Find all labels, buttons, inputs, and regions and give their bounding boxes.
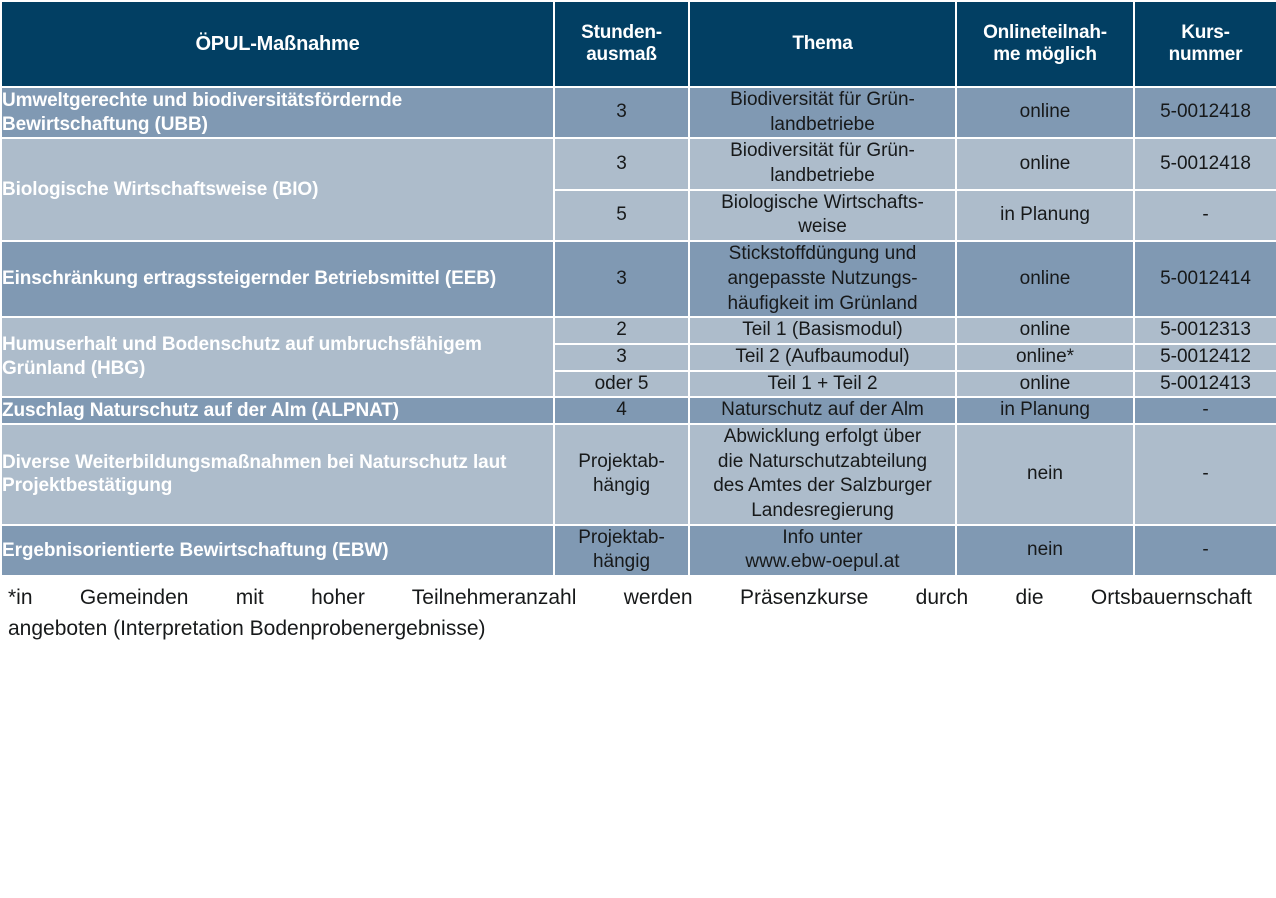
table-row: Ergebnisorientierte Bewirtschaftung (EBW… bbox=[1, 525, 1276, 576]
course-number-cell: 5-0012413 bbox=[1134, 371, 1276, 398]
topic-line: Stickstoffdüngung und bbox=[729, 243, 917, 264]
topic-line: häufigkeit im Grünland bbox=[727, 293, 917, 314]
measure-cell: Diverse Weiterbildungsmaßnahmen bei Natu… bbox=[1, 424, 554, 525]
hours-line: 3 bbox=[616, 153, 627, 174]
column-header-coursenumber-line2: nummer bbox=[1169, 44, 1243, 65]
online-availability-cell: in Planung bbox=[956, 397, 1134, 424]
footnote-line-1: *in Gemeinden mit hoher Teilnehmeranzahl… bbox=[8, 583, 1252, 613]
measure-cell: Biologische Wirtschaftsweise (BIO) bbox=[1, 138, 554, 241]
online-availability-cell: in Planung bbox=[956, 190, 1134, 241]
topic-line: Teil 1 + Teil 2 bbox=[767, 373, 877, 394]
course-number-cell: 5-0012418 bbox=[1134, 87, 1276, 138]
header-row: ÖPUL-Maßnahme Stunden- ausmaß Thema Onli… bbox=[1, 1, 1276, 87]
footnote-line-2: angeboten (Interpretation Bodenprobenerg… bbox=[8, 614, 1252, 644]
topic-cell: Stickstoffdüngung undangepasste Nutzungs… bbox=[689, 241, 956, 317]
topic-cell: Info unterwww.ebw-oepul.at bbox=[689, 525, 956, 576]
topic-cell: Naturschutz auf der Alm bbox=[689, 397, 956, 424]
online-availability-cell: nein bbox=[956, 424, 1134, 525]
topic-cell: Teil 2 (Aufbaumodul) bbox=[689, 344, 956, 371]
table-row: Diverse Weiterbildungsmaßnahmen bei Natu… bbox=[1, 424, 1276, 525]
measure-cell: Umweltgerechte und biodiversitätsfördern… bbox=[1, 87, 554, 138]
course-number-cell: - bbox=[1134, 525, 1276, 576]
hours-cell: Projektab-hängig bbox=[554, 424, 689, 525]
hours-cell: oder 5 bbox=[554, 371, 689, 398]
topic-line: Naturschutz auf der Alm bbox=[721, 399, 924, 420]
hours-line: 3 bbox=[616, 346, 627, 367]
topic-line: des Amtes der Salzburger bbox=[713, 475, 932, 496]
hours-cell: 2 bbox=[554, 317, 689, 344]
course-number-cell: 5-0012412 bbox=[1134, 344, 1276, 371]
hours-line: oder 5 bbox=[595, 373, 649, 394]
hours-line: hängig bbox=[593, 475, 650, 496]
table-row: Umweltgerechte und biodiversitätsfördern… bbox=[1, 87, 1276, 138]
measure-cell: Ergebnisorientierte Bewirtschaftung (EBW… bbox=[1, 525, 554, 576]
hours-cell: 5 bbox=[554, 190, 689, 241]
topic-cell: Biologische Wirtschafts-weise bbox=[689, 190, 956, 241]
table-row: Humuserhalt und Bodenschutz auf umbruchs… bbox=[1, 317, 1276, 344]
topic-line: Teil 1 (Basismodul) bbox=[742, 319, 903, 340]
footnote: *in Gemeinden mit hoher Teilnehmeranzahl… bbox=[0, 577, 1260, 644]
table-row: Einschränkung ertragssteigernder Betrieb… bbox=[1, 241, 1276, 317]
page-root: ÖPUL-Maßnahme Stunden- ausmaß Thema Onli… bbox=[0, 0, 1276, 898]
topic-line: landbetriebe bbox=[770, 114, 875, 135]
hours-line: 3 bbox=[616, 101, 627, 122]
hours-line: 3 bbox=[616, 268, 627, 289]
topic-line: Abwicklung erfolgt über bbox=[724, 426, 922, 447]
topic-cell: Teil 1 (Basismodul) bbox=[689, 317, 956, 344]
topic-line: Info unter bbox=[782, 527, 862, 548]
hours-cell: 4 bbox=[554, 397, 689, 424]
hours-line: 5 bbox=[616, 204, 627, 225]
table-header: ÖPUL-Maßnahme Stunden- ausmaß Thema Onli… bbox=[1, 1, 1276, 87]
course-number-cell: - bbox=[1134, 190, 1276, 241]
topic-line: www.ebw-oepul.at bbox=[745, 551, 899, 572]
column-header-online-line2: me möglich bbox=[993, 44, 1097, 65]
hours-line: Projektab- bbox=[578, 527, 665, 548]
oepul-measures-table: ÖPUL-Maßnahme Stunden- ausmaß Thema Onli… bbox=[0, 0, 1276, 577]
online-availability-cell: online* bbox=[956, 344, 1134, 371]
topic-cell: Biodiversität für Grün-landbetriebe bbox=[689, 138, 956, 189]
hours-line: 2 bbox=[616, 319, 627, 340]
measure-cell: Humuserhalt und Bodenschutz auf umbruchs… bbox=[1, 317, 554, 397]
hours-line: hängig bbox=[593, 551, 650, 572]
column-header-hours: Stunden- ausmaß bbox=[554, 1, 689, 87]
column-header-online: Onlineteilnah- me möglich bbox=[956, 1, 1134, 87]
online-availability-cell: online bbox=[956, 241, 1134, 317]
topic-cell: Biodiversität für Grün-landbetriebe bbox=[689, 87, 956, 138]
table-body: Umweltgerechte und biodiversitätsfördern… bbox=[1, 87, 1276, 576]
online-availability-cell: online bbox=[956, 87, 1134, 138]
hours-cell: 3 bbox=[554, 344, 689, 371]
topic-line: Biodiversität für Grün- bbox=[730, 140, 915, 161]
topic-line: weise bbox=[798, 216, 847, 237]
hours-cell: 3 bbox=[554, 241, 689, 317]
online-availability-cell: online bbox=[956, 317, 1134, 344]
course-number-cell: - bbox=[1134, 397, 1276, 424]
topic-line: angepasste Nutzungs- bbox=[727, 268, 917, 289]
course-number-cell: 5-0012414 bbox=[1134, 241, 1276, 317]
topic-line: Landesregierung bbox=[751, 500, 894, 521]
column-header-measure: ÖPUL-Maßnahme bbox=[1, 1, 554, 87]
column-header-coursenumber-line1: Kurs- bbox=[1181, 22, 1230, 43]
online-availability-cell: online bbox=[956, 138, 1134, 189]
course-number-cell: 5-0012313 bbox=[1134, 317, 1276, 344]
topic-line: Biodiversität für Grün- bbox=[730, 89, 915, 110]
column-header-online-line1: Onlineteilnah- bbox=[983, 22, 1107, 43]
topic-line: Biologische Wirtschafts- bbox=[721, 192, 924, 213]
hours-line: 4 bbox=[616, 399, 627, 420]
hours-cell: 3 bbox=[554, 87, 689, 138]
hours-cell: Projektab-hängig bbox=[554, 525, 689, 576]
measure-cell: Einschränkung ertragssteigernder Betrieb… bbox=[1, 241, 554, 317]
column-header-topic: Thema bbox=[689, 1, 956, 87]
course-number-cell: 5-0012418 bbox=[1134, 138, 1276, 189]
course-number-cell: - bbox=[1134, 424, 1276, 525]
topic-line: landbetriebe bbox=[770, 165, 875, 186]
column-header-hours-line1: Stunden- bbox=[581, 22, 662, 43]
online-availability-cell: nein bbox=[956, 525, 1134, 576]
topic-line: Teil 2 (Aufbaumodul) bbox=[735, 346, 909, 367]
measure-cell: Zuschlag Naturschutz auf der Alm (ALPNAT… bbox=[1, 397, 554, 424]
hours-line: Projektab- bbox=[578, 451, 665, 472]
table-row: Zuschlag Naturschutz auf der Alm (ALPNAT… bbox=[1, 397, 1276, 424]
table-row: Biologische Wirtschaftsweise (BIO)3Biodi… bbox=[1, 138, 1276, 189]
topic-cell: Teil 1 + Teil 2 bbox=[689, 371, 956, 398]
online-availability-cell: online bbox=[956, 371, 1134, 398]
topic-line: die Naturschutzabteilung bbox=[718, 451, 927, 472]
topic-cell: Abwicklung erfolgt überdie Naturschutzab… bbox=[689, 424, 956, 525]
hours-cell: 3 bbox=[554, 138, 689, 189]
column-header-hours-line2: ausmaß bbox=[586, 44, 657, 65]
column-header-coursenumber: Kurs- nummer bbox=[1134, 1, 1276, 87]
